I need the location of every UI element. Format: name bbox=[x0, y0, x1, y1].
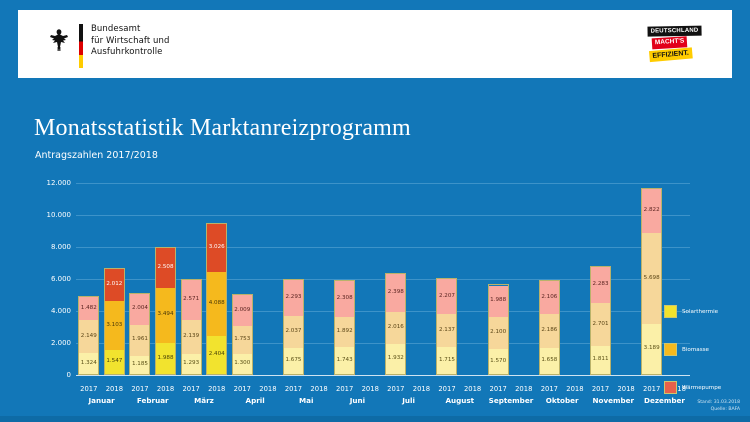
x-axis-group: 20172018März bbox=[178, 385, 229, 417]
stacked-bar[interactable]: 2.8225.6983.189 bbox=[641, 188, 662, 375]
bar-segment-waerme[interactable]: 2.508 bbox=[156, 248, 175, 287]
bar-segment-solar[interactable]: 1.300 bbox=[233, 354, 252, 374]
x-axis-group: 20172018April bbox=[230, 385, 281, 417]
german-flag-bar bbox=[79, 24, 83, 68]
x-axis-year-label: 2018 bbox=[306, 385, 332, 393]
x-axis-year-label: 2017 bbox=[383, 385, 409, 393]
x-axis-labels: 20172018Januar20172018Februar20172018Mär… bbox=[76, 385, 690, 417]
x-axis-month-label: November bbox=[588, 396, 639, 405]
bar-slot bbox=[511, 184, 537, 375]
bar-segment-solar[interactable]: 1.743 bbox=[335, 347, 354, 374]
bar-groups: 1.4822.1491.3242.0123.1031.5472.0041.961… bbox=[76, 184, 690, 375]
bar-segment-waerme[interactable]: 2.398 bbox=[386, 274, 405, 312]
bar-slot: 2.0041.9611.185 bbox=[127, 184, 153, 375]
bar-segment-solar[interactable]: 1.547 bbox=[105, 350, 124, 374]
stacked-bar[interactable]: 2.5712.1391.293 bbox=[181, 279, 202, 375]
bar-slot: 2.3982.0161.932 bbox=[383, 184, 409, 375]
bar-group: 2.0091.7531.300 bbox=[230, 184, 281, 375]
stacked-bar[interactable]: 2.1062.1861.658 bbox=[539, 280, 560, 375]
legend-label: Biomasse bbox=[682, 347, 709, 353]
bar-slot bbox=[562, 184, 588, 375]
x-axis-month-label: Juli bbox=[383, 396, 434, 405]
stacked-bar[interactable]: 2.0041.9611.185 bbox=[129, 293, 150, 375]
bar-segment-bio[interactable]: 1.892 bbox=[335, 317, 354, 347]
stacked-bar[interactable]: 3.0264.0882.404 bbox=[206, 223, 227, 375]
page-title: Monatsstatistik Marktanreizprogramm bbox=[34, 115, 411, 142]
x-axis-year-label: 2017 bbox=[281, 385, 307, 393]
y-axis-tick-label: 2.000 bbox=[51, 339, 71, 347]
campaign-line-1: DEUTSCHLAND bbox=[647, 26, 701, 37]
bar-slot: 2.0091.7531.300 bbox=[230, 184, 256, 375]
bar-slot: 2.5712.1391.293 bbox=[178, 184, 204, 375]
bar-segment-waerme[interactable]: 2.308 bbox=[335, 281, 354, 317]
x-axis-group: 20172018Juni bbox=[332, 385, 383, 417]
source-note: Stand: 31.03.2018 Quelle: BAFA bbox=[697, 400, 740, 414]
bar-slot: 2.2832.7011.811 bbox=[588, 184, 614, 375]
y-axis-tick-label: 0 bbox=[67, 371, 71, 379]
bar-segment-solar[interactable]: 1.185 bbox=[130, 356, 149, 374]
legend-item[interactable]: Wärmepumpe bbox=[664, 381, 742, 394]
bar-segment-bio[interactable]: 4.088 bbox=[207, 272, 226, 337]
bar-slot: 1.4822.1491.324 bbox=[76, 184, 102, 375]
bar-segment-waerme[interactable]: 2.009 bbox=[233, 295, 252, 326]
bar-segment-solar[interactable]: 1.811 bbox=[591, 346, 610, 374]
bar-segment-waerme[interactable]: 2.207 bbox=[437, 279, 456, 314]
chart-area: 02.0004.0006.0008.00010.00012.000 1.4822… bbox=[30, 180, 690, 380]
x-axis-month-label: Oktober bbox=[537, 396, 588, 405]
x-axis-year-label: 2017 bbox=[230, 385, 256, 393]
legend-swatch-solar bbox=[664, 305, 677, 318]
bar-segment-solar[interactable]: 1.932 bbox=[386, 344, 405, 374]
x-axis-year-label: 2018 bbox=[153, 385, 179, 393]
bar-slot bbox=[357, 184, 383, 375]
institution-line-3: Ausfuhrkontrolle bbox=[91, 47, 170, 59]
bar-segment-bio[interactable]: 2.100 bbox=[489, 317, 508, 350]
x-axis-month-label: Februar bbox=[127, 396, 178, 405]
legend-swatch-bio bbox=[664, 343, 677, 356]
bar-segment-bio[interactable]: 3.103 bbox=[105, 301, 124, 350]
bar-slot bbox=[409, 184, 435, 375]
bar-slot bbox=[306, 184, 332, 375]
bar-group: 2.2072.1371.715 bbox=[434, 184, 485, 375]
stacked-bar[interactable]: 2.0091.7531.300 bbox=[232, 294, 253, 375]
bar-slot bbox=[613, 184, 639, 375]
y-axis-tick-label: 8.000 bbox=[51, 243, 71, 251]
bar-segment-waerme[interactable]: 2.293 bbox=[284, 280, 303, 316]
bar-segment-waerme[interactable]: 1.482 bbox=[79, 297, 98, 320]
bar-segment-bio[interactable]: 2.137 bbox=[437, 314, 456, 347]
campaign-line-3: EFFIZIENT. bbox=[649, 47, 692, 62]
legend-item[interactable]: Solarthermie bbox=[664, 305, 742, 318]
institution-name: Bundesamt für Wirtschaft und Ausfuhrkont… bbox=[91, 24, 170, 59]
bar-segment-waerme[interactable]: 3.026 bbox=[207, 224, 226, 272]
bafa-logo: Bundesamt für Wirtschaft und Ausfuhrkont… bbox=[46, 24, 170, 68]
x-axis-year-label: 2017 bbox=[76, 385, 102, 393]
bar-segment-bio[interactable]: 1.961 bbox=[130, 325, 149, 356]
x-axis-year-label: 2018 bbox=[409, 385, 435, 393]
bar-slot: 2.2932.0371.675 bbox=[281, 184, 307, 375]
institution-line-1: Bundesamt bbox=[91, 24, 170, 36]
x-axis-month-label: April bbox=[230, 396, 281, 405]
x-axis-year-label: 2017 bbox=[639, 385, 665, 393]
x-axis-year-label: 2018 bbox=[562, 385, 588, 393]
bar-segment-solar[interactable]: 1.570 bbox=[489, 349, 508, 374]
bar-segment-solar[interactable]: 1.293 bbox=[182, 354, 201, 374]
bar-segment-waerme[interactable]: 2.283 bbox=[591, 267, 610, 303]
x-axis-year-label: 2018 bbox=[255, 385, 281, 393]
bar-segment-waerme[interactable]: 2.571 bbox=[182, 280, 201, 320]
x-axis-month-label: Juni bbox=[332, 396, 383, 405]
bar-segment-bio[interactable]: 2.016 bbox=[386, 312, 405, 344]
bar-segment-bio[interactable]: 2.701 bbox=[591, 303, 610, 345]
bar-group: 2.1062.1861.658 bbox=[537, 184, 588, 375]
bar-segment-waerme[interactable]: 1.988 bbox=[489, 286, 508, 317]
bar-segment-waerme[interactable]: 2.106 bbox=[540, 281, 559, 314]
stacked-bar[interactable]: 1.9882.1001.570 bbox=[488, 284, 509, 375]
x-axis-month-label: August bbox=[434, 396, 485, 405]
bar-slot: 2.1062.1861.658 bbox=[537, 184, 563, 375]
bar-group: 1.9882.1001.570 bbox=[485, 184, 536, 375]
x-axis-month-label: Januar bbox=[76, 396, 127, 405]
bar-slot: 2.3081.8921.743 bbox=[332, 184, 358, 375]
x-axis-year-label: 2017 bbox=[178, 385, 204, 393]
x-axis-group: 20172018Oktober bbox=[537, 385, 588, 417]
x-axis-month-label: September bbox=[485, 396, 536, 405]
bar-segment-solar[interactable]: 1.324 bbox=[79, 353, 98, 374]
deutschland-macht-es-effizient-logo: DEUTSCHLAND MACHT'S EFFIZIENT. bbox=[647, 25, 710, 63]
bar-segment-waerme[interactable]: 2.004 bbox=[130, 294, 149, 325]
bar-slot bbox=[460, 184, 486, 375]
stacked-bar[interactable]: 2.0123.1031.547 bbox=[104, 268, 125, 375]
bar-segment-waerme[interactable]: 2.822 bbox=[642, 189, 661, 234]
y-axis-tick-label: 6.000 bbox=[51, 275, 71, 283]
x-axis-group: 20172018Mai bbox=[281, 385, 332, 417]
legend-swatch-waerme bbox=[664, 381, 677, 394]
x-axis-group: 20172018August bbox=[434, 385, 485, 417]
bar-group: 2.5712.1391.2933.0264.0882.404 bbox=[178, 184, 229, 375]
bar-segment-solar[interactable]: 1.715 bbox=[437, 347, 456, 374]
stacked-bar[interactable]: 2.3081.8921.743 bbox=[334, 280, 355, 375]
x-axis-month-label: Mai bbox=[281, 396, 332, 405]
legend-label: Solarthermie bbox=[682, 309, 718, 315]
federal-eagle-icon bbox=[46, 24, 72, 54]
y-axis-tick-label: 12.000 bbox=[47, 179, 72, 187]
x-axis-year-label: 2017 bbox=[588, 385, 614, 393]
source-line-2: Quelle: BAFA bbox=[697, 407, 740, 414]
bar-group: 2.2832.7011.811 bbox=[588, 184, 639, 375]
bar-slot: 2.5083.4941.988 bbox=[153, 184, 179, 375]
x-axis-month-label: März bbox=[178, 396, 229, 405]
bar-group: 2.2932.0371.675 bbox=[281, 184, 332, 375]
bar-slot: 2.0123.1031.547 bbox=[102, 184, 128, 375]
bar-segment-solar[interactable]: 1.658 bbox=[540, 348, 559, 374]
x-axis-group: 20172018Juli bbox=[383, 385, 434, 417]
plot-area: 02.0004.0006.0008.00010.00012.000 1.4822… bbox=[76, 184, 690, 376]
bar-segment-bio[interactable]: 2.149 bbox=[79, 320, 98, 354]
y-axis-tick-label: 10.000 bbox=[47, 211, 72, 219]
bar-segment-solar[interactable]: 1.988 bbox=[156, 343, 175, 374]
x-axis-group: 20172018September bbox=[485, 385, 536, 417]
bar-group: 2.3982.0161.932 bbox=[383, 184, 434, 375]
x-axis-year-label: 2018 bbox=[204, 385, 230, 393]
x-axis-year-label: 2018 bbox=[357, 385, 383, 393]
x-axis-group: 20172018Februar bbox=[127, 385, 178, 417]
bottom-strip bbox=[0, 416, 750, 422]
bar-segment-bio[interactable]: 2.037 bbox=[284, 316, 303, 348]
stacked-bar[interactable]: 2.3982.0161.932 bbox=[385, 273, 406, 375]
stacked-bar[interactable]: 2.5083.4941.988 bbox=[155, 247, 176, 375]
y-axis-tick-label: 4.000 bbox=[51, 307, 71, 315]
legend-label: Wärmepumpe bbox=[682, 385, 721, 391]
bar-slot: 2.8225.6983.189 bbox=[639, 184, 665, 375]
bar-slot: 1.9882.1001.570 bbox=[485, 184, 511, 375]
bar-segment-waerme[interactable]: 2.012 bbox=[105, 269, 124, 301]
bar-slot bbox=[255, 184, 281, 375]
page-subtitle: Antragszahlen 2017/2018 bbox=[35, 150, 158, 161]
header-bar: Bundesamt für Wirtschaft und Ausfuhrkont… bbox=[18, 10, 732, 78]
x-axis-year-label: 2018 bbox=[102, 385, 128, 393]
x-axis-year-label: 2018 bbox=[613, 385, 639, 393]
bar-segment-bio[interactable]: 2.139 bbox=[182, 320, 201, 354]
stacked-bar[interactable]: 2.2072.1371.715 bbox=[436, 278, 457, 375]
bar-group: 2.3081.8921.743 bbox=[332, 184, 383, 375]
bar-segment-bio[interactable]: 1.753 bbox=[233, 326, 252, 353]
x-axis-year-label: 2018 bbox=[460, 385, 486, 393]
x-axis-year-label: 2017 bbox=[127, 385, 153, 393]
institution-line-2: für Wirtschaft und bbox=[91, 36, 170, 48]
x-axis-year-label: 2018 bbox=[511, 385, 537, 393]
stacked-bar[interactable]: 1.4822.1491.324 bbox=[78, 296, 99, 375]
bar-segment-bio[interactable]: 2.186 bbox=[540, 314, 559, 348]
bar-segment-solar[interactable]: 2.404 bbox=[207, 336, 226, 374]
bar-slot: 3.0264.0882.404 bbox=[204, 184, 230, 375]
x-axis-year-label: 2017 bbox=[434, 385, 460, 393]
bar-slot: 2.2072.1371.715 bbox=[434, 184, 460, 375]
bar-segment-solar[interactable]: 3.189 bbox=[642, 324, 661, 374]
bar-group: 2.0041.9611.1852.5083.4941.988 bbox=[127, 184, 178, 375]
legend-item[interactable]: Biomasse bbox=[664, 343, 742, 356]
stacked-bar[interactable]: 2.2932.0371.675 bbox=[283, 279, 304, 375]
x-axis-year-label: 2017 bbox=[485, 385, 511, 393]
x-axis-year-label: 2017 bbox=[537, 385, 563, 393]
x-axis-line bbox=[76, 375, 690, 376]
bar-segment-bio[interactable]: 3.494 bbox=[156, 288, 175, 343]
bar-segment-solar[interactable]: 1.675 bbox=[284, 348, 303, 374]
bar-segment-bio[interactable]: 5.698 bbox=[642, 233, 661, 323]
campaign-line-2: MACHT'S bbox=[652, 36, 688, 49]
x-axis-group: 20172018November bbox=[588, 385, 639, 417]
bar-group: 1.4822.1491.3242.0123.1031.547 bbox=[76, 184, 127, 375]
x-axis-year-label: 2017 bbox=[332, 385, 358, 393]
stacked-bar[interactable]: 2.2832.7011.811 bbox=[590, 266, 611, 375]
x-axis-group: 20172018Januar bbox=[76, 385, 127, 417]
